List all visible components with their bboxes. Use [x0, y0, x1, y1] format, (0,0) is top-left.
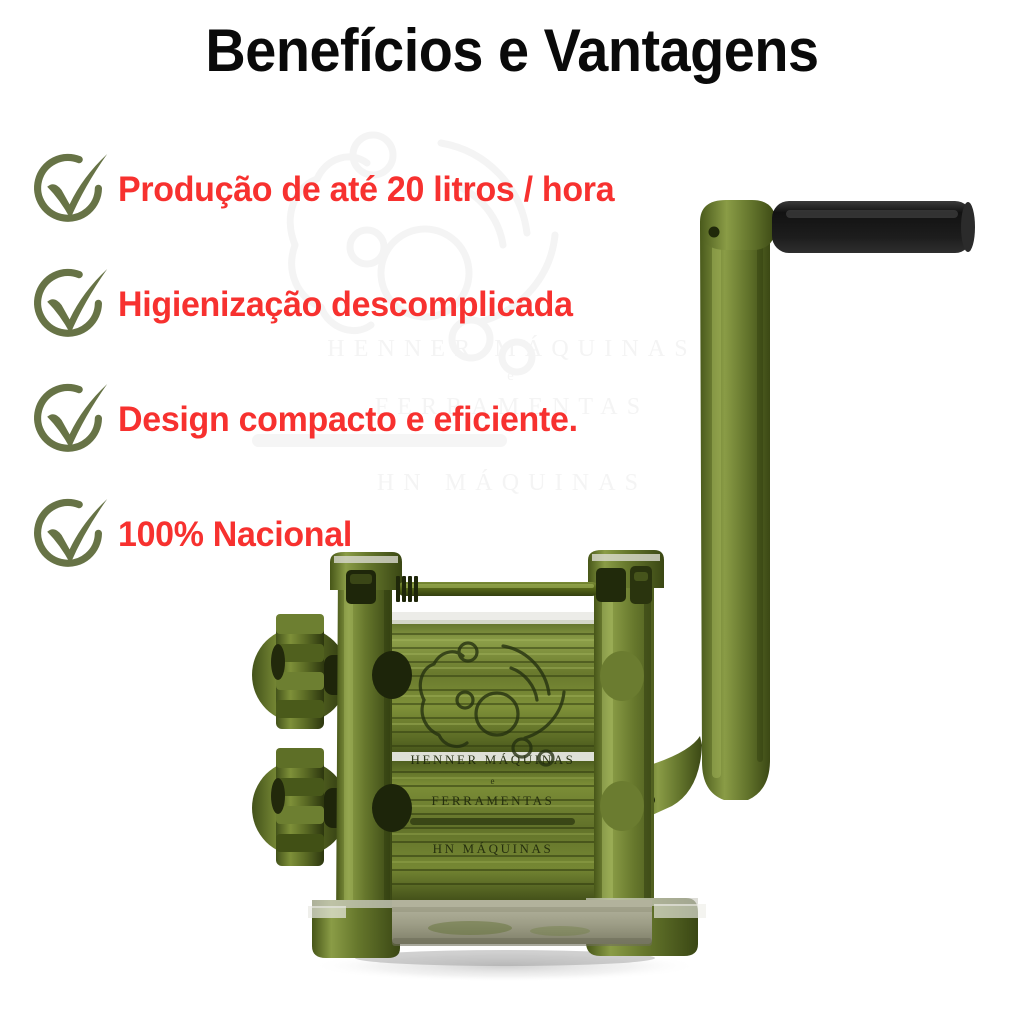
benefit-item-1: Produção de até 20 litros / hora: [0, 132, 720, 247]
drive-gears: [252, 614, 376, 866]
juice-tray: [392, 900, 652, 946]
promo-banner: HENNER MÁQUINAS e FERRAMENTAS HN MÁQUINA…: [0, 0, 1024, 1024]
benefit-item-2: Higienização descomplicada: [0, 247, 720, 362]
product-embossed-watermark: HENNER MÁQUINAS e FERRAMENTAS HN MÁQUINA…: [410, 643, 576, 856]
benefit-label: Higienização descomplicada: [118, 285, 573, 325]
gear-upper: [252, 614, 376, 729]
floor-shadow: [310, 950, 700, 982]
check-circle-icon: [28, 495, 108, 575]
benefit-label: 100% Nacional: [118, 515, 352, 555]
check-circle-icon: [28, 380, 108, 460]
crank-grip-handle: [772, 201, 972, 253]
frame-posts: [308, 550, 706, 958]
check-circle-icon: [28, 265, 108, 345]
benefit-label: Produção de até 20 litros / hora: [118, 170, 614, 210]
check-circle-icon: [28, 150, 108, 230]
emboss-line-4: HN MÁQUINAS: [433, 841, 554, 856]
benefit-item-4: 100% Nacional: [0, 477, 720, 592]
benefit-label: Design compacto e eficiente.: [118, 400, 578, 440]
emboss-line-3: FERRAMENTAS: [432, 793, 555, 808]
crushing-rollers: [385, 612, 601, 910]
emboss-line-2: e: [491, 776, 496, 786]
benefits-list: Produção de até 20 litros / hora Higieni…: [0, 132, 720, 592]
benefit-item-3: Design compacto e eficiente.: [0, 362, 720, 477]
emboss-line-1: HENNER MÁQUINAS: [410, 752, 575, 767]
page-title: Benefícios e Vantagens: [36, 16, 988, 85]
gear-lower: [252, 748, 376, 866]
